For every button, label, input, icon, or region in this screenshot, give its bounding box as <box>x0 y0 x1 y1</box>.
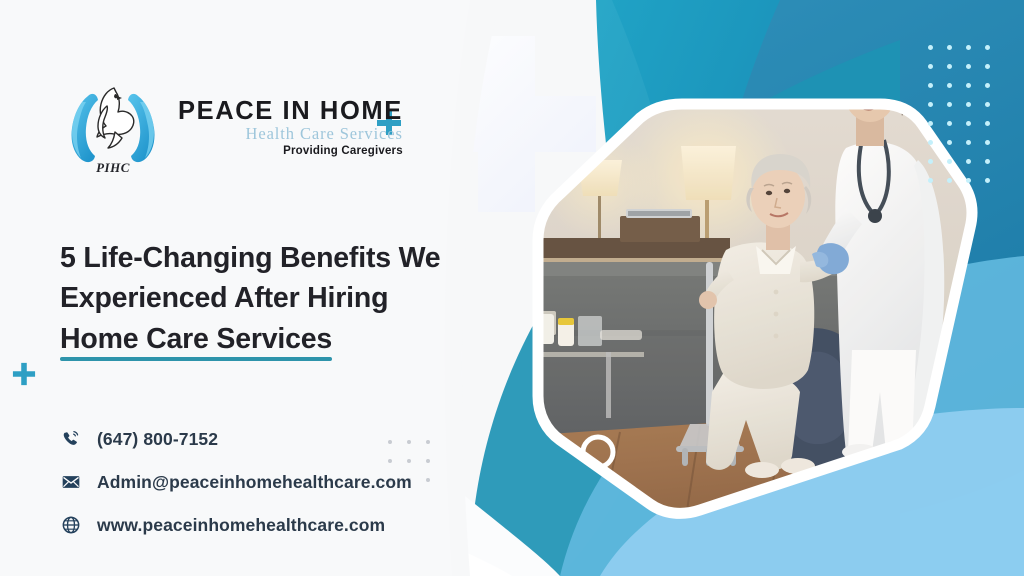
contact-list: (647) 800-7152 Admin@peaceinhomehealthca… <box>60 428 412 536</box>
promotional-banner: PIHC PEACE IN HOME Health Care Services … <box>0 0 1024 576</box>
phone-number: (647) 800-7152 <box>97 429 218 450</box>
brand-tagline: Health Care Services <box>246 125 403 144</box>
contact-phone[interactable]: (647) 800-7152 <box>60 428 412 450</box>
logo-wordmark: PEACE IN HOME Health Care Services Provi… <box>178 94 403 159</box>
dove-in-hands-logo-icon: PIHC <box>58 72 168 180</box>
phone-icon <box>60 428 82 450</box>
logo-monogram: PIHC <box>58 160 168 176</box>
left-content-column: PIHC PEACE IN HOME Health Care Services … <box>0 0 470 576</box>
email-address: Admin@peaceinhomehealthcare.com <box>97 472 412 493</box>
contact-website[interactable]: www.peaceinhomehealthcare.com <box>60 514 412 536</box>
globe-icon <box>60 514 82 536</box>
email-icon <box>60 471 82 493</box>
headline-text: 5 Life-Changing Benefits We Experienced … <box>60 238 460 359</box>
brand-subtagline: Providing Caregivers <box>283 145 403 158</box>
headline-underline <box>60 357 332 361</box>
brand-name: PEACE IN HOME <box>178 98 403 125</box>
contact-email[interactable]: Admin@peaceinhomehealthcare.com <box>60 471 412 493</box>
dot-grid-right <box>928 45 991 184</box>
website-url: www.peaceinhomehealthcare.com <box>97 515 385 536</box>
brand-logo[interactable]: PIHC PEACE IN HOME Health Care Services … <box>58 72 403 180</box>
